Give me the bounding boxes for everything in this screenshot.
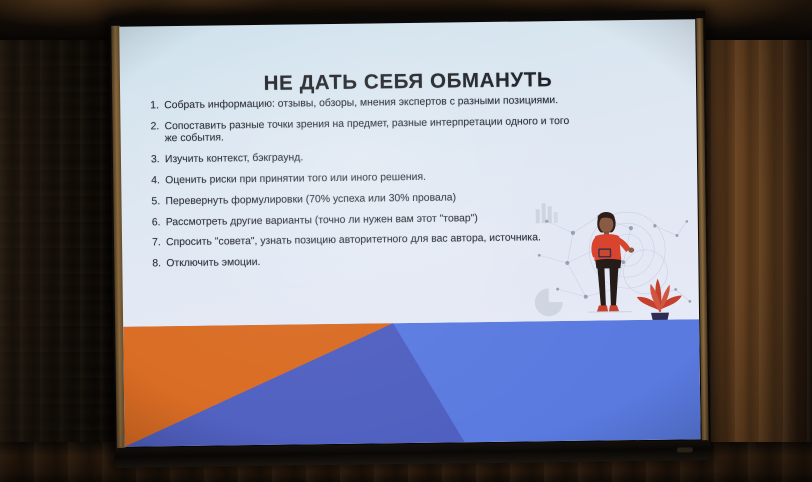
list-item-number: 5. bbox=[151, 196, 160, 209]
woman-with-tablet-illustration bbox=[581, 206, 639, 329]
list-item-number: 1. bbox=[150, 100, 159, 113]
page-title: НЕ ДАТЬ СЕБЯ ОБМАНУТЬ bbox=[120, 66, 696, 98]
list-item: 3. Изучить контекст, бэкграунд. bbox=[151, 149, 599, 167]
list-item: 4. Оценить риски при принятии того или и… bbox=[151, 169, 599, 187]
presentation-slide: НЕ ДАТЬ СЕБЯ ОБМАНУТЬ 1. Собрать информа… bbox=[119, 19, 700, 447]
list-item-number: 3. bbox=[151, 154, 160, 167]
list-item-number: 2. bbox=[150, 121, 159, 134]
dark-damask-curtain bbox=[0, 0, 126, 482]
list-item-number: 7. bbox=[152, 238, 161, 251]
list-item-text: Изучить контекст, бэкграунд. bbox=[165, 149, 599, 167]
list-item-text: Сопоставить разные точки зрения на предм… bbox=[164, 115, 584, 146]
slide-bottom-band bbox=[123, 319, 701, 447]
list-item-text: Оценить риски при принятии того или иног… bbox=[165, 169, 599, 187]
list-item: 1. Собрать информацию: отзывы, обзоры, м… bbox=[150, 95, 598, 113]
projection-screen: НЕ ДАТЬ СЕБЯ ОБМАНУТЬ 1. Собрать информа… bbox=[109, 10, 711, 464]
list-item-number: 8. bbox=[152, 258, 161, 271]
list-item-number: 4. bbox=[151, 175, 160, 188]
list-item-text: Собрать информацию: отзывы, обзоры, мнен… bbox=[164, 95, 584, 113]
list-item-number: 6. bbox=[152, 217, 161, 230]
list-item: 2. Сопоставить разные точки зрения на пр… bbox=[150, 115, 598, 146]
